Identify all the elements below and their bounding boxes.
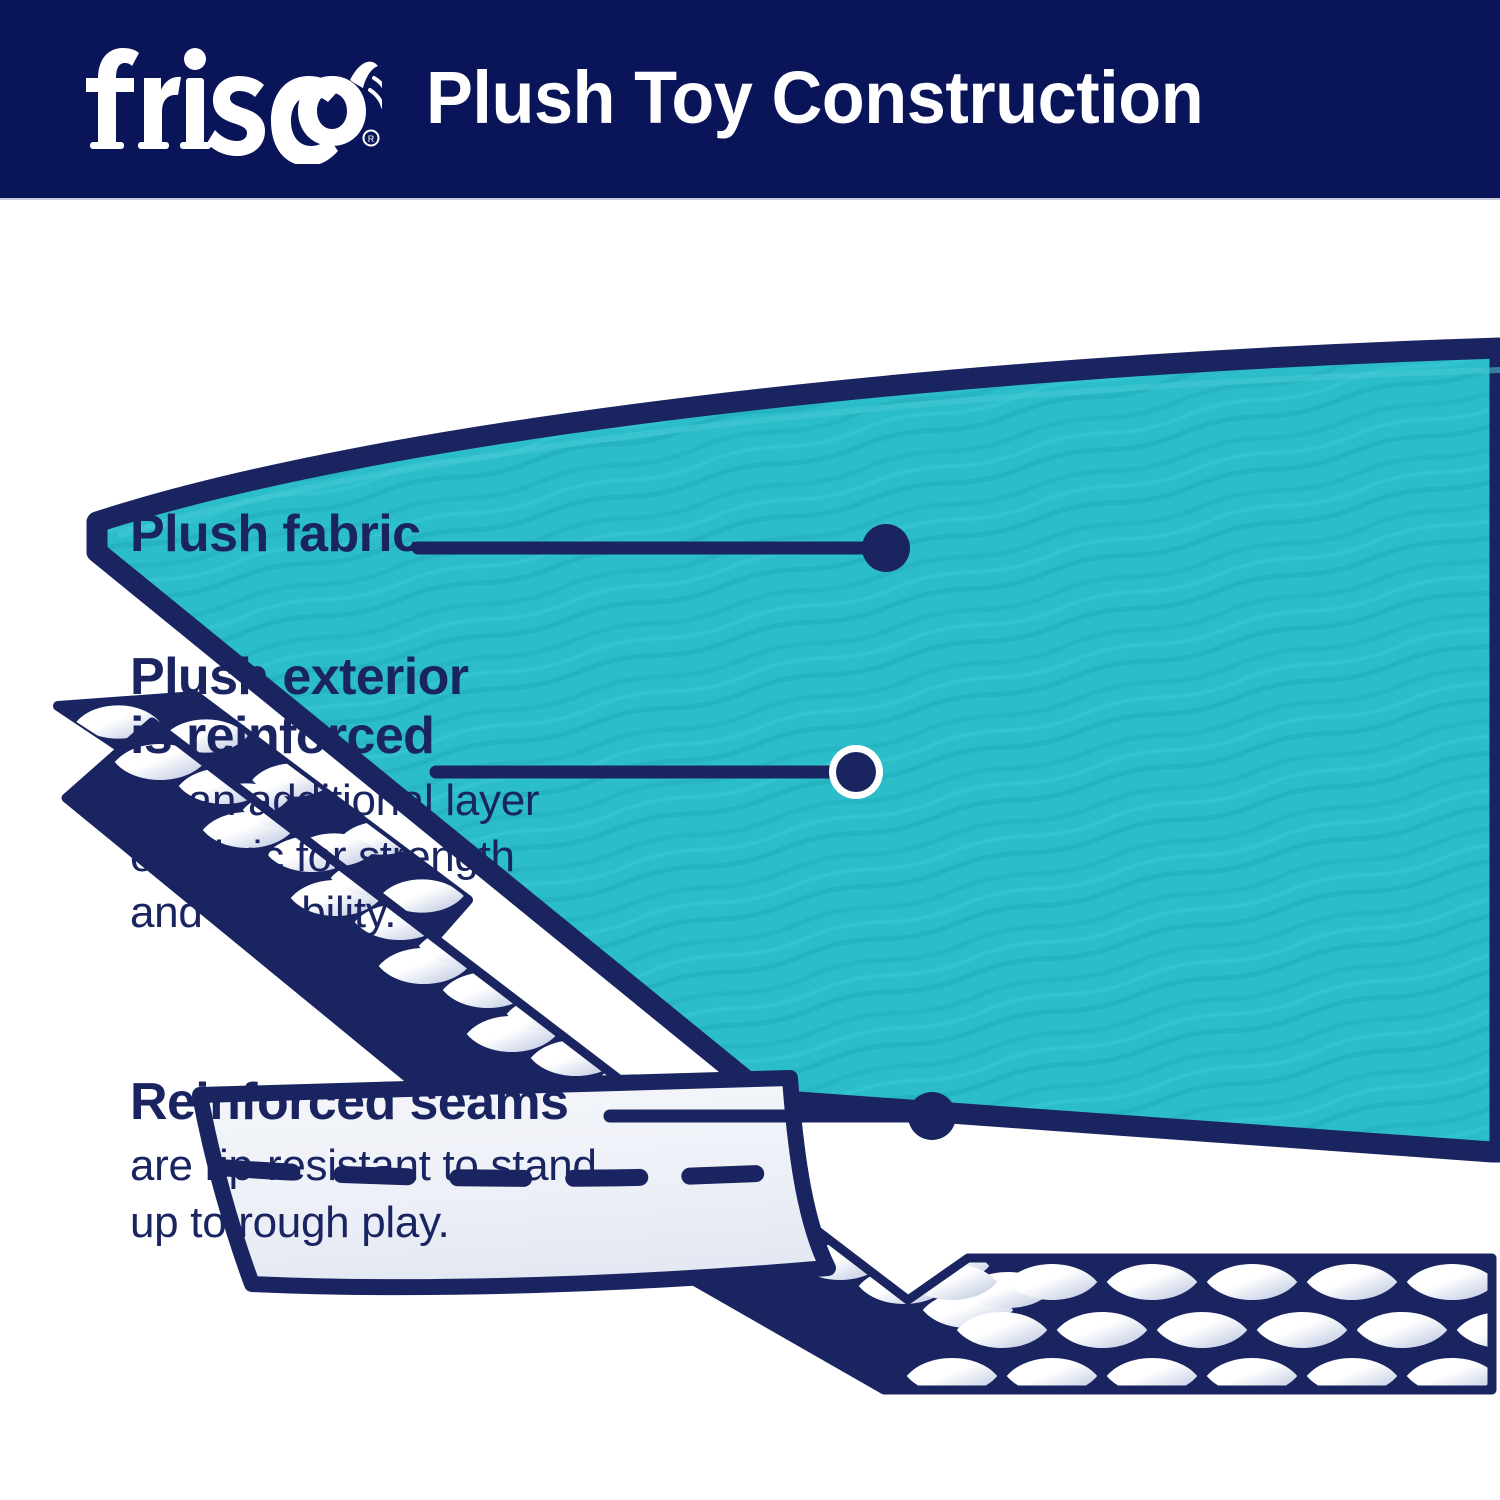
marker-dot-plush-exterior <box>836 752 876 792</box>
callout-plush-fabric: Plush fabric <box>130 505 420 564</box>
callout-plush-exterior-heading-line-2: is reinforced <box>130 707 539 766</box>
page-title: Plush Toy Construction <box>426 55 1203 140</box>
header-bar: R Plush Toy Construction <box>0 0 1500 200</box>
callout-plush-exterior-body-line-2: of fabric for strength <box>130 829 539 885</box>
callout-plush-exterior-heading-line-1: Plush exterior <box>130 648 539 707</box>
callout-reinforced-seams: Reinforced seams are rip-resistant to st… <box>130 1073 597 1251</box>
callout-plush-exterior-body-line-1: by an additional layer <box>130 773 539 829</box>
callout-plush-fabric-heading: Plush fabric <box>130 505 420 564</box>
callout-reinforced-seams-heading: Reinforced seams <box>130 1073 597 1132</box>
registered-trademark-icon: R <box>364 131 379 146</box>
callout-plush-exterior: Plush exterior is reinforced by an addit… <box>130 648 539 941</box>
callout-reinforced-seams-body-line-1: are rip-resistant to stand <box>130 1138 597 1194</box>
infographic-canvas: R Plush Toy Construction <box>0 0 1500 1500</box>
svg-text:R: R <box>368 134 375 144</box>
callout-plush-exterior-body-line-3: and durability. <box>130 885 539 941</box>
frisco-logo: R <box>82 34 382 164</box>
callout-reinforced-seams-body-line-2: up to rough play. <box>130 1195 597 1251</box>
marker-dot-reinforced-seams <box>908 1092 956 1140</box>
marker-dot-plush-fabric <box>862 524 910 572</box>
frisco-wordmark-icon: R <box>82 34 382 164</box>
